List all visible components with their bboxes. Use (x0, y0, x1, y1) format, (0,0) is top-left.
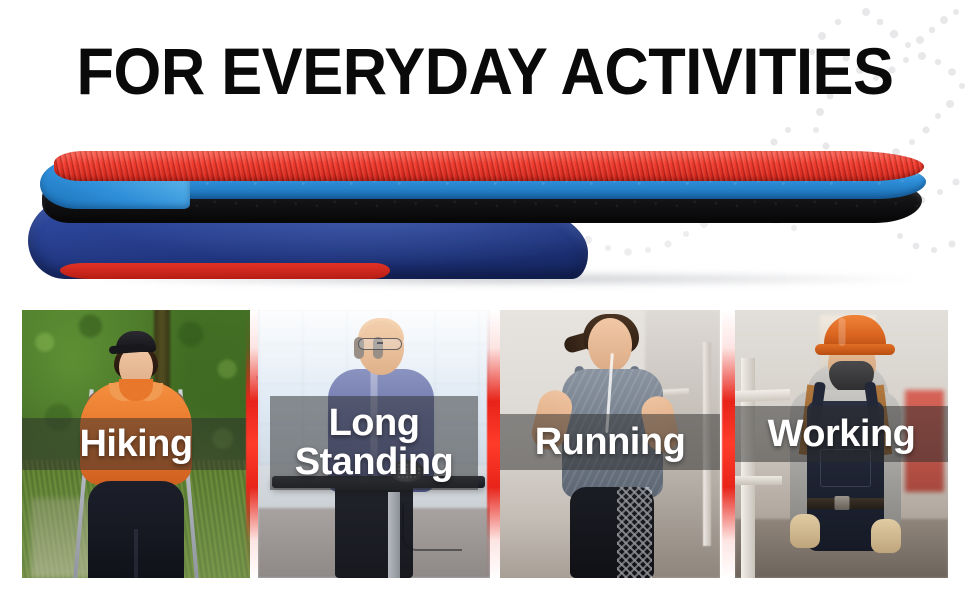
running-label-band: Running (500, 414, 720, 470)
activity-card-row: Hiking Long Standing (0, 310, 970, 578)
activity-label-running: Running (535, 423, 686, 462)
card-divider-3 (722, 310, 736, 578)
activity-card-working[interactable]: Working (735, 310, 948, 578)
activity-card-running[interactable]: Running (500, 310, 720, 578)
activity-label-hiking: Hiking (79, 425, 192, 464)
insole-top-cover-layer (54, 151, 924, 181)
insole-heel-base-layer (60, 263, 390, 279)
product-image: Alignment Arch Support (0, 135, 970, 300)
page-title: FOR EVERYDAY ACTIVITIES (34, 38, 936, 104)
working-label-band: Working (735, 406, 948, 462)
activity-card-long-standing[interactable]: Long Standing (258, 310, 490, 578)
activity-label-working: Working (768, 415, 916, 454)
activity-label-long-standing: Long Standing (295, 404, 454, 482)
long-standing-label-band: Long Standing (270, 396, 478, 490)
activity-card-hiking[interactable]: Hiking (22, 310, 250, 578)
insole-illustration (20, 143, 950, 293)
product-feature-banner: FOR EVERYDAY ACTIVITIES Alignment Arch S… (0, 0, 970, 600)
hiking-label-band: Hiking (22, 418, 250, 470)
